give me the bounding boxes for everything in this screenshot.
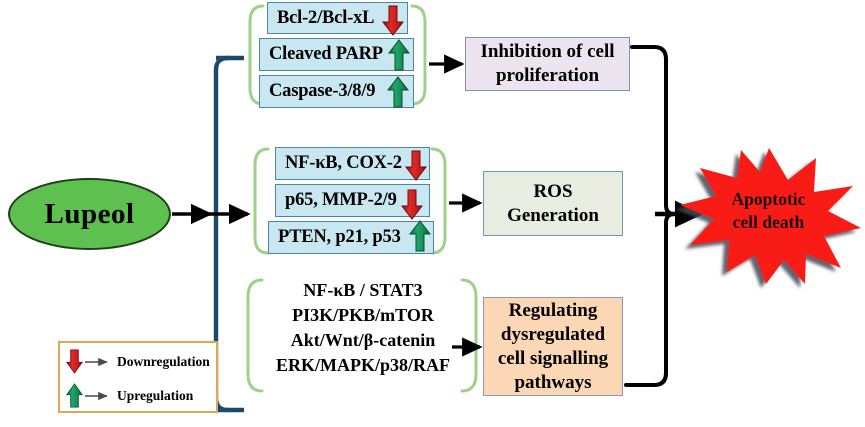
merge-bracket-bottom bbox=[626, 214, 674, 385]
down-arrow-icon bbox=[382, 3, 404, 37]
up-arrow-icon bbox=[387, 75, 409, 109]
outcome-line: Regulating bbox=[509, 300, 598, 321]
outcome-label: Regulating dysregulated cell signalling … bbox=[498, 299, 608, 395]
outcome-label: Inhibition of cell proliferation bbox=[480, 40, 614, 88]
apoptosis-line: Apoptotic bbox=[732, 189, 806, 209]
down-arrow-icon bbox=[66, 347, 83, 376]
marker-box-cleaved-parp[interactable]: Cleaved PARP bbox=[259, 38, 414, 71]
legend-row-upregulation: Upregulation bbox=[66, 381, 193, 410]
down-arrow-icon bbox=[401, 187, 423, 221]
legend-connector-arrow bbox=[83, 356, 113, 368]
lupeol-label: Lupeol bbox=[44, 198, 134, 231]
up-arrow-icon bbox=[409, 219, 431, 253]
outcome-line: proliferation bbox=[496, 65, 599, 86]
outcome-box-signalling[interactable]: Regulating dysregulated cell signalling … bbox=[483, 297, 623, 396]
pathway-line: ERK/MAPK/p38/RAF bbox=[252, 353, 474, 378]
legend-row-downregulation: Downregulation bbox=[66, 347, 210, 376]
marker-label: Bcl-2/Bcl-xL bbox=[277, 8, 374, 29]
marker-box-nfkb-cox2[interactable]: NF-κB, COX-2 bbox=[275, 147, 430, 180]
outcome-box-ros[interactable]: ROS Generation bbox=[483, 171, 623, 236]
up-arrow-icon bbox=[66, 381, 83, 410]
marker-label: PTEN, p21, p53 bbox=[278, 227, 401, 248]
outcome-line: Inhibition of cell bbox=[480, 41, 614, 62]
terminal-node-apoptotic-cell-death[interactable]: Apoptotic cell death bbox=[676, 148, 861, 284]
outcome-label: ROS Generation bbox=[507, 180, 599, 228]
marker-label: Cleaved PARP bbox=[269, 44, 383, 65]
outcome-line: ROS bbox=[533, 181, 572, 202]
source-node-lupeol[interactable]: Lupeol bbox=[8, 178, 171, 250]
pathway-line: Akt/Wnt/β-catenin bbox=[252, 328, 474, 353]
apoptosis-label: Apoptotic cell death bbox=[676, 188, 861, 234]
legend-label: Downregulation bbox=[117, 354, 210, 370]
marker-box-p65-mmp[interactable]: p65, MMP-2/9 bbox=[275, 184, 430, 217]
marker-box-pten-p21-p53[interactable]: PTEN, p21, p53 bbox=[268, 221, 434, 254]
legend: Downregulation Upregulation bbox=[58, 341, 218, 413]
marker-box-bcl2[interactable]: Bcl-2/Bcl-xL bbox=[267, 2, 408, 34]
merge-bracket-top bbox=[632, 47, 674, 214]
bracket-left-group2 bbox=[255, 149, 268, 253]
pathway-diagram: Lupeol Bcl-2/Bcl-xL Cleaved PARP Caspase… bbox=[0, 0, 865, 427]
pathway-line: PI3K/PKB/mTOR bbox=[252, 303, 474, 328]
up-arrow-icon bbox=[388, 38, 410, 72]
marker-box-caspase[interactable]: Caspase-3/8/9 bbox=[259, 75, 414, 108]
apoptosis-line: cell death bbox=[733, 212, 804, 232]
marker-label: p65, MMP-2/9 bbox=[285, 190, 397, 211]
signalling-pathway-list: NF-κB / STAT3 PI3K/PKB/mTOR Akt/Wnt/β-ca… bbox=[252, 278, 474, 378]
marker-label: NF-κB, COX-2 bbox=[285, 153, 402, 174]
outcome-line: pathways bbox=[514, 372, 591, 393]
legend-connector-arrow bbox=[83, 390, 113, 402]
outcome-box-inhibition[interactable]: Inhibition of cell proliferation bbox=[465, 37, 630, 91]
down-arrow-icon bbox=[405, 148, 427, 182]
outcome-line: dysregulated bbox=[501, 324, 605, 345]
outcome-line: cell signalling bbox=[498, 348, 608, 369]
marker-label: Caspase-3/8/9 bbox=[269, 81, 375, 102]
legend-label: Upregulation bbox=[117, 388, 193, 404]
pathway-line: NF-κB / STAT3 bbox=[252, 278, 474, 303]
outcome-line: Generation bbox=[507, 205, 599, 226]
